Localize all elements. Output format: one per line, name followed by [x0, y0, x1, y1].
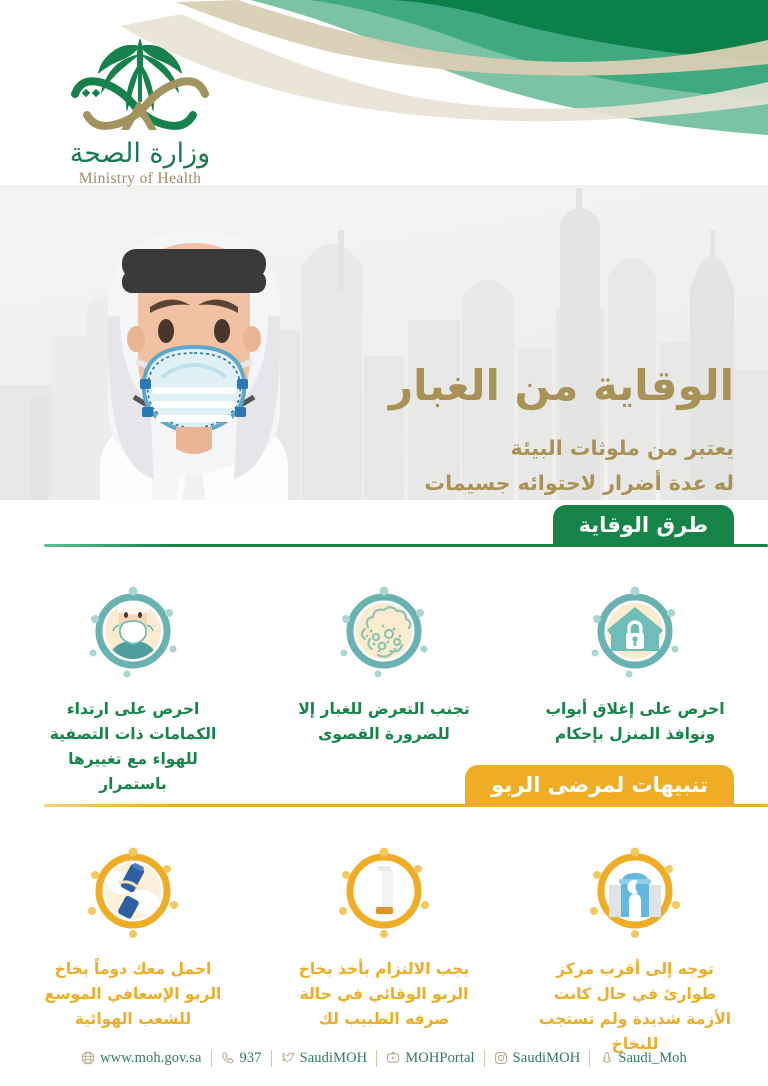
footer-instagram-text: SaudiMOH [513, 1050, 581, 1067]
hero-subtitle-line: له عدة أضرار لاحتوائه جسيمات [304, 466, 734, 500]
card-preventive-inhaler: يجب الالتزام بأخذ بخاخ الربو الوقائي في … [273, 839, 495, 1057]
rescue-inhaler-in-hand-icon [81, 839, 185, 943]
section-tab-asthma: تنبيهات لمرضى الربو [465, 765, 734, 805]
card-caption: احرص على إغلاق أبواب ونوافذ المنزل بإحكا… [524, 697, 746, 747]
footer-contact-bar: www.moh.gov.sa 937 SaudiMOH [0, 1030, 768, 1086]
section-header-prevention: طرق الوقاية [0, 503, 768, 561]
footer-item-phone[interactable]: 937 [212, 1050, 271, 1067]
card-caption: احمل معك دوماً بخاخ الربو الإسعافي الموس… [22, 957, 244, 1032]
dust-cloud-icon [332, 579, 436, 683]
footer-snapchat-text: Saudi_Moh [618, 1050, 687, 1067]
page-title: الوقاية من الغبار [304, 361, 734, 411]
footer-phone-text: 937 [240, 1050, 262, 1067]
section-header-asthma: تنبيهات لمرضى الربو [0, 763, 768, 821]
footer-twitter-text: SaudiMOH [300, 1050, 368, 1067]
footer-item-website[interactable]: www.moh.gov.sa [72, 1050, 210, 1067]
hero-subtitle: يعتبر من ملوثات البيئة له عدة أضرار لاحت… [304, 431, 734, 500]
footer-item-instagram[interactable]: SaudiMOH [485, 1050, 590, 1067]
locked-house-icon [583, 579, 687, 683]
logo-arabic-text: وزارة الصحة [40, 140, 240, 167]
infographic-page: الوقاية من الغبار يعتبر من ملوثات البيئة… [0, 0, 768, 1086]
footer-item-youtube[interactable]: MOHPortal [377, 1050, 483, 1067]
hero-subtitle-line: يعتبر من ملوثات البيئة [304, 431, 734, 466]
globe-icon [81, 1051, 95, 1065]
twitter-icon [281, 1051, 295, 1065]
card-go-to-emergency: توجه إلى أقرب مركز طوارئ في حال كانت الأ… [524, 839, 746, 1057]
instagram-icon [494, 1051, 508, 1065]
footer-item-snapchat[interactable]: Saudi_Moh [590, 1050, 696, 1067]
man-with-ghutra-wearing-n95-mask [78, 221, 310, 500]
card-rescue-inhaler: احمل معك دوماً بخاخ الربو الإسعافي الموس… [22, 839, 244, 1057]
youtube-icon [386, 1051, 400, 1065]
footer-item-twitter[interactable]: SaudiMOH [272, 1050, 377, 1067]
footer-youtube-text: MOHPortal [405, 1050, 474, 1067]
footer-website-text: www.moh.gov.sa [100, 1050, 201, 1067]
person-wearing-mask-icon [81, 579, 185, 683]
phone-icon [221, 1051, 235, 1065]
section-prevention: طرق الوقاية [0, 503, 768, 797]
section-asthma-alerts: تنبيهات لمرضى الربو [0, 763, 768, 1057]
emergency-hospital-icon [583, 839, 687, 943]
moh-palm-swords-logo [55, 34, 225, 144]
snapchat-icon [599, 1051, 613, 1065]
moh-logo: وزارة الصحة Ministry of Health [40, 34, 240, 188]
logo-english-text: Ministry of Health [40, 170, 240, 188]
card-caption: يجب الالتزام بأخذ بخاخ الربو الوقائي في … [273, 957, 495, 1032]
card-caption: تجنب التعرض للغبار إلا للضرورة القصوى [273, 697, 495, 747]
hero-text-block: الوقاية من الغبار يعتبر من ملوثات البيئة… [304, 361, 734, 500]
section-tab-prevention: طرق الوقاية [553, 505, 734, 545]
asthma-cards: توجه إلى أقرب مركز طوارئ في حال كانت الأ… [0, 839, 768, 1057]
preventive-inhaler-icon [332, 839, 436, 943]
